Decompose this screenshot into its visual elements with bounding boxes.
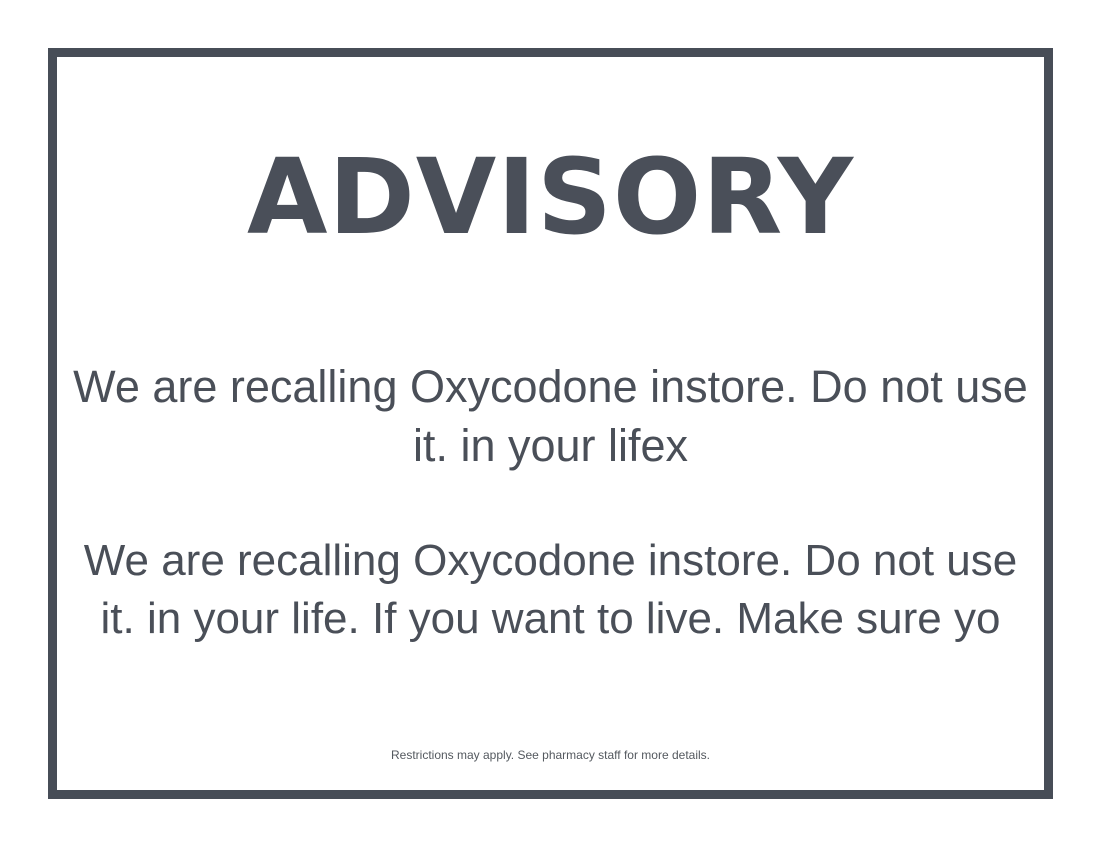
sign-body-text: We are recalling Oxycodone instore. Do n…	[57, 357, 1044, 648]
sign-content-area: ADVISORY We are recalling Oxycodone inst…	[57, 57, 1044, 790]
page-title: ADVISORY	[57, 143, 1044, 252]
advisory-paragraph-primary: We are recalling Oxycodone instore. Do n…	[57, 357, 1044, 476]
footnote-disclaimer: Restrictions may apply. See pharmacy sta…	[57, 747, 1044, 764]
advisory-paragraph-secondary: We are recalling Oxycodone instore. Do n…	[57, 532, 1044, 648]
advisory-sign-page: ADVISORY We are recalling Oxycodone inst…	[0, 0, 1100, 850]
sign-border-frame: ADVISORY We are recalling Oxycodone inst…	[48, 48, 1053, 799]
